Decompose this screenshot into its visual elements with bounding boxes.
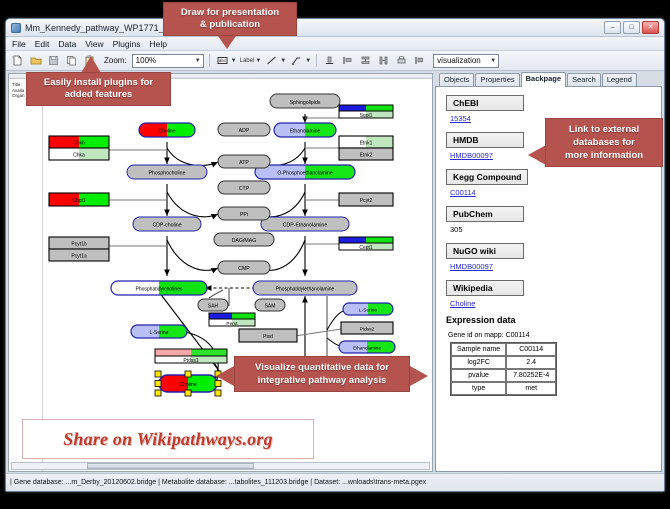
svg-text:Chka: Chka [73,152,85,158]
db-value-wikipedia: Choline [450,299,653,308]
gene-id-label: Gene id on mapp: C00114 [448,332,653,339]
app-icon [11,23,21,33]
toolbar-separator [209,54,210,67]
expression-data-title: Expression data [446,315,653,325]
svg-text:SAM: SAM [265,303,276,309]
callout-visualize-line1: Visualize quantitative data for [243,361,401,374]
node-sam[interactable]: SAM [255,299,285,311]
cell-key-pvalue: pvalue [451,369,506,382]
cell-value-type: met [506,382,556,395]
callout-draw-line1: Draw for presentation [172,7,288,19]
svg-text:Pcyt2: Pcyt2 [360,198,373,204]
maximize-button[interactable]: □ [623,21,640,34]
table-row: pvalue 7.80252E-4 [451,369,556,382]
svg-text:Ptdss1: Ptdss1 [183,358,199,364]
svg-text:O-Phosphoethanolamine: O-Phosphoethanolamine [277,171,333,177]
zoom-combobox[interactable]: 100% ▼ [132,54,204,68]
zoom-value: 100% [136,56,156,65]
status-text: | Gene database: ...m_Derby_20120602.bri… [10,479,426,486]
minimize-button[interactable]: – [604,21,621,34]
node-phosphatidylcholines[interactable]: Phosphatidylcholines [111,281,207,295]
node-ptdss1[interactable]: Ptdss1 [155,349,227,364]
tool-bar: Zoom: 100% ▼ abc ▼ Label ▼ ▼ [6,51,664,71]
menu-bar: File Edit Data View Plugins Help [6,37,664,51]
line-tool[interactable]: ▼ [264,53,286,68]
menu-item-edit[interactable]: Edit [35,39,50,49]
svg-text:PPi: PPi [240,212,248,218]
svg-text:Pcyt1a: Pcyt1a [71,253,87,259]
db-header-wikipedia: Wikipedia [446,280,524,296]
scrollbar-thumb[interactable] [87,463,254,469]
svg-text:Ptdss2: Ptdss2 [360,326,375,332]
svg-text:CDP-Ethanolamine: CDP-Ethanolamine [283,223,328,229]
svg-text:Choline: Choline [159,129,176,135]
tab-legend[interactable]: Legend [602,73,637,87]
node-choline-selected[interactable]: Choline [155,371,221,396]
window-controls: – □ ✕ [604,21,659,34]
close-button[interactable]: ✕ [642,21,659,34]
node-chpt1[interactable]: Chpt1 [49,193,109,206]
node-pemt[interactable]: Pemt [209,313,255,327]
wikipedia-link[interactable]: Choline [450,299,475,308]
db-value-nugo: HMDB00097 [450,262,653,271]
align-left-icon[interactable] [340,53,355,68]
title-bar: Mm_Kennedy_pathway_WP1771_45176.gpml – □… [6,19,664,37]
node-ppi[interactable]: PPi [218,207,270,220]
svg-text:Sgpl1: Sgpl1 [360,113,373,119]
node-ethanolamine-top[interactable]: Ethanolamine [274,123,336,137]
align-top-icon[interactable] [322,53,337,68]
node-l-serine-right[interactable]: L-Serine [343,303,393,315]
svg-text:Pisd: Pisd [263,334,273,340]
node-phosphatidylethanolamine[interactable]: Phosphatidylethanolamine [253,281,357,295]
svg-text:Cept1: Cept1 [359,245,373,251]
cell-key-sample-name: Sample name [451,343,506,356]
callout-visualize-line2: integrative pathway analysis [243,374,401,387]
callout-plugins-line2: added features [35,89,162,101]
chevron-down-icon: ▼ [305,58,311,64]
kegg-link[interactable]: C00114 [450,188,476,197]
svg-text:Choline: Choline [179,382,197,388]
node-l-serine-left[interactable]: L-Serine [131,325,187,338]
datanode-tool[interactable]: abc ▼ [215,53,237,68]
node-chkb[interactable]: Chkb [49,136,109,148]
menu-item-help[interactable]: Help [150,39,167,49]
svg-text:Phosphocholine: Phosphocholine [149,171,186,177]
svg-text:Phosphatidylcholines: Phosphatidylcholines [136,287,183,293]
shape-tool[interactable]: ▼ [289,53,311,68]
callout-plugins: Easily install plugins for added feature… [26,72,171,106]
pathway-canvas[interactable]: Title: Availa Organ [8,73,433,472]
callout-plugins-line1: Easily install plugins for [35,77,162,89]
node-etnk2[interactable]: Etnk2 [339,148,393,160]
svg-text:Phosphatidylethanolamine: Phosphatidylethanolamine [276,287,335,293]
tab-objects[interactable]: Objects [439,73,474,87]
svg-text:L-Serine: L-Serine [150,330,169,336]
db-header-nugo: NuGO wiki [446,243,524,259]
table-row: type met [451,382,556,395]
svg-text:L-Serine: L-Serine [359,307,377,313]
chevron-down-icon: ▼ [486,58,496,64]
callout-plugins-arrow-icon [81,56,101,73]
callout-visualize-arrow-right-icon [410,366,428,386]
visualization-value: visualization [437,56,481,65]
callout-link: Link to external databases for more info… [545,118,663,167]
svg-text:Etnk1: Etnk1 [360,140,373,146]
node-atp[interactable]: ATP [218,155,270,168]
screenshot-root: Mm_Kennedy_pathway_WP1771_45176.gpml – □… [0,0,670,509]
db-header-hmdb: HMDB [446,132,524,148]
node-choline-top[interactable]: Choline [139,123,195,137]
cell-value-pvalue: 7.80252E-4 [506,369,556,382]
node-ctp[interactable]: CTP [218,181,270,194]
svg-text:Ethanolamine: Ethanolamine [290,129,321,135]
node-pcyt1b[interactable]: Pcyt1b [49,237,109,249]
node-pcyt2[interactable]: Pcyt2 [339,193,393,206]
callout-link-line3: more information [554,149,654,162]
svg-text:Chkb: Chkb [73,140,85,146]
svg-text:SAH: SAH [208,303,219,309]
node-cdp-ethanolamine[interactable]: CDP-Ethanolamine [261,217,349,231]
node-cmp[interactable]: CMP [218,261,270,274]
chevron-down-icon: ▼ [191,58,201,64]
node-cept1[interactable]: Cept1 [339,237,393,251]
svg-text:CDP-choline: CDP-choline [152,223,181,229]
svg-text:Pemt: Pemt [226,321,238,327]
menu-item-data[interactable]: Data [58,39,76,49]
node-phosphocholine[interactable]: Phosphocholine [127,165,207,179]
open-folder-icon[interactable] [28,53,43,68]
callout-share-text: Share on Wikipathways.org [63,429,273,450]
layout-icon[interactable] [412,53,427,68]
status-bar: | Gene database: ...m_Derby_20120602.bri… [6,473,664,491]
svg-text:DAG/MAG: DAG/MAG [232,238,257,244]
db-value-kegg: C00114 [450,188,653,197]
callout-visualize: Visualize quantitative data for integrat… [234,356,410,392]
nugo-link[interactable]: HMDB00097 [450,262,493,271]
menu-item-view[interactable]: View [85,39,103,49]
stack-vertical-icon[interactable] [358,53,373,68]
db-header-kegg: Kegg Compound [446,169,528,185]
callout-draw-line2: & publication [172,19,288,31]
cell-value-log2fc: 2.4 [506,356,556,369]
label-tool-text: Label [240,58,255,64]
zoom-label: Zoom: [104,56,127,65]
node-o-phosphoethanolamine[interactable]: O-Phosphoethanolamine [255,165,355,179]
svg-text:Etnk2: Etnk2 [360,152,373,158]
callout-link-arrow-icon [528,145,546,165]
svg-text:ADP: ADP [239,128,250,134]
table-row: log2FC 2.4 [451,356,556,369]
node-chka[interactable]: Chka [49,148,109,160]
visualization-combobox[interactable]: visualization ▼ [433,54,499,68]
canvas-horizontal-scrollbar[interactable] [11,462,430,470]
print-icon[interactable] [394,53,409,68]
tab-properties[interactable]: Properties [475,73,519,87]
cell-key-type: type [451,382,506,395]
svg-text:Ethanolamine: Ethanolamine [353,345,382,350]
datanode-icon[interactable]: abc [215,53,230,68]
svg-text:Sphingolipids: Sphingolipids [290,100,321,106]
db-header-chebi: ChEBI [446,95,524,111]
db-header-pubchem: PubChem [446,206,524,222]
svg-text:Chpt1: Chpt1 [72,198,86,204]
distribute-icon[interactable] [376,53,391,68]
svg-text:CMP: CMP [238,266,250,272]
cell-key-log2fc: log2FC [451,356,506,369]
node-adp[interactable]: ADP [218,123,270,136]
menu-item-plugins[interactable]: Plugins [113,39,141,49]
chevron-down-icon: ▼ [280,58,286,64]
node-ptdss2[interactable]: Ptdss2 [341,322,393,334]
shape-tool-icon[interactable] [289,53,304,68]
panel-tabs: Objects Properties Backpage Search Legen… [435,73,662,87]
tab-search[interactable]: Search [567,73,601,87]
new-file-icon[interactable] [10,53,25,68]
db-value-pubchem: 305 [450,225,653,234]
expression-table: Sample name C00114 log2FC 2.4 pvalue 7.8… [450,342,557,396]
callout-link-line2: databases for [554,136,654,149]
save-icon[interactable] [46,53,61,68]
callout-share: Share on Wikipathways.org [22,419,314,459]
toolbar-separator [316,54,317,67]
cell-value-sample-name: C00114 [506,343,556,356]
node-pcyt1a[interactable]: Pcyt1a [49,249,109,261]
callout-link-line1: Link to external [554,123,654,136]
node-dag-mag[interactable]: DAG/MAG [214,233,274,246]
node-sgpl1[interactable]: Sgpl1 [339,105,393,119]
svg-text:abc: abc [219,58,227,63]
node-sphingolipids[interactable]: Sphingolipids [270,94,340,108]
callout-visualize-arrow-icon [216,366,234,386]
node-pisd[interactable]: Pisd [239,329,297,342]
svg-text:CTP: CTP [239,186,250,192]
node-etnk1[interactable]: Etnk1 [339,136,393,148]
chevron-down-icon: ▼ [231,58,237,64]
pathway-diagram[interactable]: Sphingolipids Choline Ethanolamine [9,80,433,472]
menu-item-file[interactable]: File [12,39,26,49]
node-cdp-choline[interactable]: CDP-choline [133,217,201,231]
node-sah[interactable]: SAH [198,299,228,311]
copy-icon[interactable] [64,53,79,68]
label-tool[interactable]: Label ▼ [240,58,262,64]
line-tool-icon[interactable] [264,53,279,68]
table-row: Sample name C00114 [451,343,556,356]
node-ethanolamine-right[interactable]: Ethanolamine [339,341,395,353]
callout-draw: Draw for presentation & publication [163,2,297,36]
chebi-link[interactable]: 15354 [450,114,471,123]
tab-backpage[interactable]: Backpage [521,72,566,87]
chevron-down-icon: ▼ [255,58,261,64]
svg-text:Pcyt1b: Pcyt1b [71,241,87,247]
hmdb-link[interactable]: HMDB00097 [450,151,493,160]
svg-text:ATP: ATP [239,160,249,166]
